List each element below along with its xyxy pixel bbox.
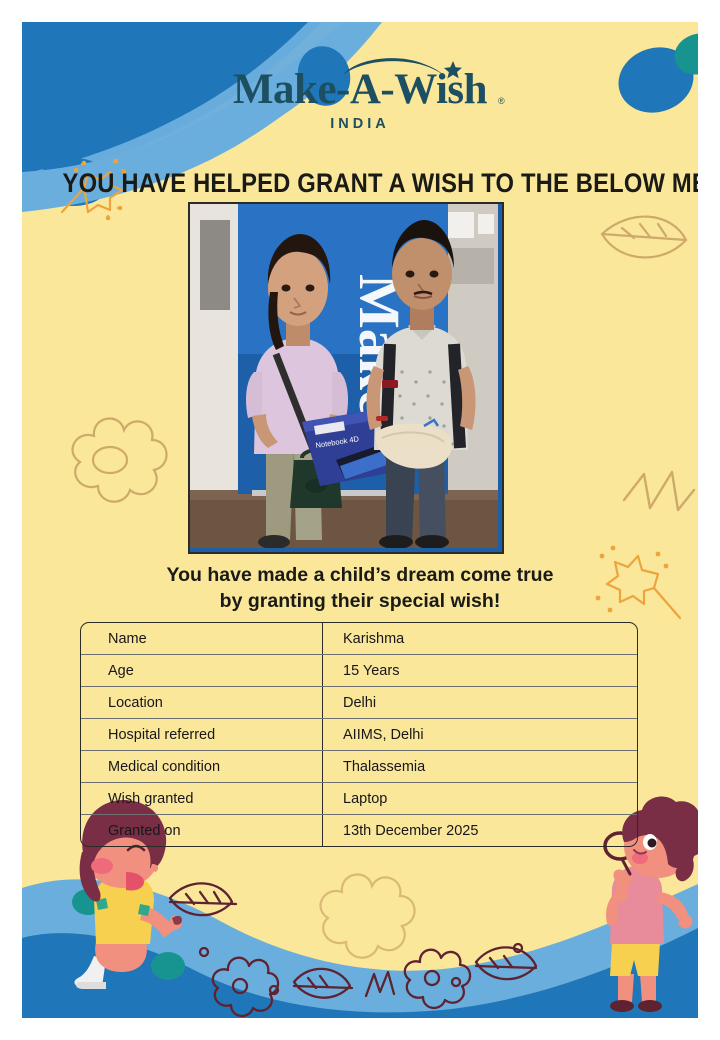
subtitle: You have made a child’s dream come true … <box>22 562 698 614</box>
svg-text:Make-A-Wish: Make-A-Wish <box>233 66 488 113</box>
table-row: Age 15 Years <box>81 655 637 687</box>
teal-dot-1 <box>72 889 104 915</box>
page-title: YOU HAVE HELPED GRANT A WISH TO THE BELO… <box>63 168 658 199</box>
pale-flower-doodle <box>321 875 415 958</box>
row-label: Granted on <box>81 815 323 847</box>
table-row: Name Karishma <box>81 623 637 655</box>
logo-subtext: INDIA <box>22 116 698 132</box>
table-row: Wish granted Laptop <box>81 783 637 815</box>
row-value: Karishma <box>323 623 638 655</box>
table-row: Medical condition Thalassemia <box>81 751 637 783</box>
bottom-light-wave <box>22 879 698 1018</box>
flower-outline-left-icon <box>73 419 167 502</box>
table-row: Hospital referred AIIMS, Delhi <box>81 719 637 751</box>
wish-photo: Make-A makeawishindia.org info@makeawish… <box>188 202 504 554</box>
subtitle-line-1: You have made a child’s dream come true <box>167 564 554 586</box>
row-value: Laptop <box>323 783 638 815</box>
teal-dot-2 <box>151 952 185 980</box>
bottom-dark-wave <box>22 928 698 1018</box>
row-value: AIIMS, Delhi <box>323 719 638 751</box>
row-value: Delhi <box>323 687 638 719</box>
maroon-doodles <box>170 883 536 1016</box>
row-label: Name <box>81 623 323 655</box>
row-value: 13th December 2025 <box>323 815 638 847</box>
certificate-card: Make-A-Wish ® INDIA YOU HAVE HELPED GRAN… <box>22 22 698 1018</box>
row-value: 15 Years <box>323 655 638 687</box>
row-label: Age <box>81 655 323 687</box>
row-label: Medical condition <box>81 751 323 783</box>
row-label: Location <box>81 687 323 719</box>
wish-details-table: Name Karishma Age 15 Years Location Delh… <box>80 622 638 847</box>
make-a-wish-wordmark-icon: Make-A-Wish ® <box>210 56 510 114</box>
leaf-outline-right-icon <box>602 217 686 258</box>
wish-photo-image: Make-A makeawishindia.org info@makeawish… <box>190 204 498 548</box>
make-a-wish-logo: Make-A-Wish ® INDIA <box>22 56 698 132</box>
svg-text:®: ® <box>498 96 505 106</box>
subtitle-line-2: by granting their special wish! <box>22 588 698 614</box>
row-label: Hospital referred <box>81 719 323 751</box>
zigzag-right-icon <box>624 472 694 510</box>
certificate-page: Make-A-Wish ® INDIA YOU HAVE HELPED GRAN… <box>0 0 720 1040</box>
row-value: Thalassemia <box>323 751 638 783</box>
table-row: Granted on 13th December 2025 <box>81 815 637 847</box>
row-label: Wish granted <box>81 783 323 815</box>
table-row: Location Delhi <box>81 687 637 719</box>
